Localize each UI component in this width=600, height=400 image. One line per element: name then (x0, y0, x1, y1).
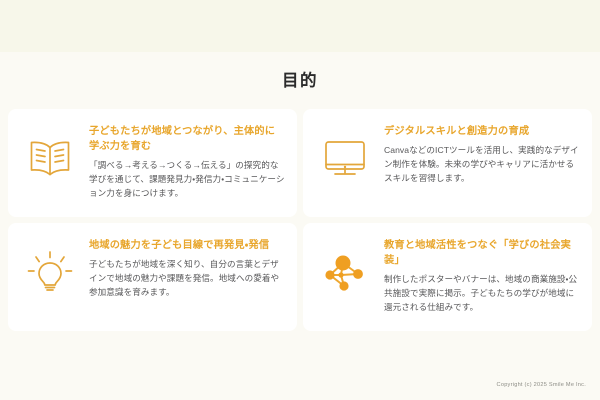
purpose-card: 子どもたちが地域とつながり、主体的に学ぶ力を育む 「調べる→考える→つくる→伝え… (8, 109, 297, 217)
card-description: 制作したポスターやバナーは、地域の商業施設・公共施設で実際に掲示。子どもたちの学… (384, 273, 580, 315)
slide-page: 目的 (0, 0, 600, 400)
monitor-icon (316, 129, 374, 187)
card-description: 「調べる→考える→つくる→伝える」の探究的な学びを通じて、課題発見力・発信力・コ… (89, 159, 285, 201)
purpose-card: 教育と地域活性をつなぐ「学びの社会実装」 制作したポスターやバナーは、地域の商業… (303, 223, 592, 331)
card-description: 子どもたちが地域を深く知り、自分の言葉とデザインで地域の魅力や課題を発信。地域へ… (89, 258, 285, 300)
card-heading: デジタルスキルと創造力の育成 (384, 124, 580, 139)
footer: Copyright (c) 2025 Smile Me Inc. (0, 373, 600, 400)
purpose-card: デジタルスキルと創造力の育成 CanvaなどのICTツールを活用し、実践的なデザ… (303, 109, 592, 217)
slide-content: 目的 (0, 52, 600, 400)
card-description: CanvaなどのICTツールを活用し、実践的なデザイン制作を体験。未来の学びやキ… (384, 144, 580, 186)
card-body: 子どもたちが地域とつながり、主体的に学ぶ力を育む 「調べる→考える→つくる→伝え… (89, 123, 285, 201)
card-heading: 子どもたちが地域とつながり、主体的に学ぶ力を育む (89, 124, 285, 155)
card-body: デジタルスキルと創造力の育成 CanvaなどのICTツールを活用し、実践的なデザ… (384, 123, 580, 186)
purpose-card-grid: 子どもたちが地域とつながり、主体的に学ぶ力を育む 「調べる→考える→つくる→伝え… (0, 109, 600, 331)
copyright-text: Copyright (c) 2025 Smile Me Inc. (497, 382, 586, 388)
card-heading: 地域の魅力を子ども目線で再発見・発信 (89, 238, 285, 253)
lightbulb-icon (21, 243, 79, 301)
card-body: 教育と地域活性をつなぐ「学びの社会実装」 制作したポスターやバナーは、地域の商業… (384, 237, 580, 315)
card-heading: 教育と地域活性をつなぐ「学びの社会実装」 (384, 238, 580, 269)
page-title: 目的 (0, 52, 600, 109)
network-nodes-icon (316, 243, 374, 301)
card-body: 地域の魅力を子ども目線で再発見・発信 子どもたちが地域を深く知り、自分の言葉とデ… (89, 237, 285, 300)
purpose-card: 地域の魅力を子ども目線で再発見・発信 子どもたちが地域を深く知り、自分の言葉とデ… (8, 223, 297, 331)
top-band (0, 0, 600, 52)
open-book-icon (21, 129, 79, 187)
